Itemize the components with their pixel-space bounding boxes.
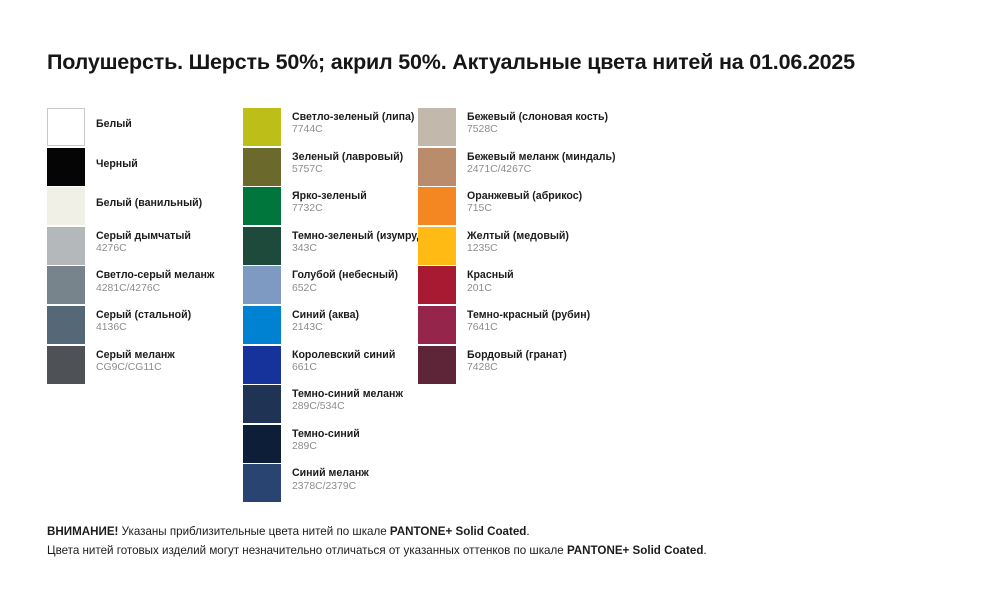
color-labels: Серый (стальной)4136C	[96, 306, 191, 334]
color-row: Голубой (небесный)652C	[243, 266, 418, 306]
color-labels: Красный201C	[467, 266, 514, 294]
color-name: Серый меланж	[96, 349, 175, 361]
color-name: Темно-зеленый (изумруд)	[292, 230, 427, 242]
color-labels: Серый дымчатый4276C	[96, 227, 191, 255]
color-labels: Синий (аква)2143C	[292, 306, 359, 334]
swatch-column-2: Светло-зеленый (липа)7744CЗеленый (лавро…	[243, 108, 418, 504]
color-name: Светло-серый меланж	[96, 269, 214, 281]
color-labels: Темно-синий меланж289C/534C	[292, 385, 403, 413]
color-name: Желтый (медовый)	[467, 230, 569, 242]
color-row: Белый	[47, 108, 243, 148]
color-pantone-code: 2471C/4267C	[467, 164, 616, 176]
color-row: Темно-синий меланж289C/534C	[243, 385, 418, 425]
color-swatch	[418, 266, 456, 304]
color-name: Бежевый меланж (миндаль)	[467, 151, 616, 163]
footer-line-2: Цвета нитей готовых изделий могут незнач…	[47, 542, 947, 561]
color-labels: Королевский синий661C	[292, 346, 395, 374]
color-row: Оранжевый (абрикос)715C	[418, 187, 718, 227]
color-name: Серый дымчатый	[96, 230, 191, 242]
footer-line-1-end: .	[526, 525, 529, 538]
color-row: Темно-красный (рубин)7641C	[418, 306, 718, 346]
color-row: Красный201C	[418, 266, 718, 306]
color-pantone-code: 715C	[467, 203, 582, 215]
color-swatch	[418, 187, 456, 225]
color-labels: Синий меланж2378C/2379C	[292, 464, 369, 492]
color-swatch	[418, 227, 456, 265]
color-labels: Бежевый меланж (миндаль)2471C/4267C	[467, 148, 616, 176]
color-swatch	[47, 346, 85, 384]
color-swatch	[243, 187, 281, 225]
color-pantone-code: 5757C	[292, 164, 403, 176]
color-name: Ярко-зеленый	[292, 190, 367, 202]
footer-attention-label: ВНИМАНИЕ!	[47, 525, 118, 538]
color-name: Серый (стальной)	[96, 309, 191, 321]
color-name: Бордовый (гранат)	[467, 349, 567, 361]
color-name: Черный	[96, 158, 138, 170]
color-labels: Черный	[96, 148, 138, 170]
color-pantone-code: 2143C	[292, 322, 359, 334]
color-pantone-code: 289C/534C	[292, 401, 403, 413]
color-swatch	[243, 346, 281, 384]
pantone-brand-2: PANTONE+ Solid Coated	[567, 544, 703, 557]
color-labels: Белый	[96, 108, 132, 130]
color-labels: Темно-зеленый (изумруд)343C	[292, 227, 427, 255]
footer-line-2-text: Цвета нитей готовых изделий могут незнач…	[47, 544, 567, 557]
color-pantone-code: 661C	[292, 362, 395, 374]
color-row: Светло-серый меланж4281C/4276C	[47, 266, 243, 306]
color-swatch	[418, 306, 456, 344]
color-pantone-code: 289C	[292, 441, 360, 453]
color-labels: Темно-красный (рубин)7641C	[467, 306, 590, 334]
color-name: Синий меланж	[292, 467, 369, 479]
color-row: Серый (стальной)4136C	[47, 306, 243, 346]
color-row: Синий меланж2378C/2379C	[243, 464, 418, 504]
color-name: Королевский синий	[292, 349, 395, 361]
color-name: Светло-зеленый (липа)	[292, 111, 414, 123]
color-pantone-code: 7428C	[467, 362, 567, 374]
color-row: Серый меланжCG9C/CG11C	[47, 346, 243, 386]
color-pantone-code: 4136C	[96, 322, 191, 334]
color-swatch	[243, 425, 281, 463]
color-swatch	[47, 187, 85, 225]
color-name: Темно-синий	[292, 428, 360, 440]
color-labels: Бежевый (слоновая кость)7528C	[467, 108, 608, 136]
footer-line-2-end: .	[703, 544, 706, 557]
color-labels: Темно-синий289C	[292, 425, 360, 453]
color-pantone-code: CG9C/CG11C	[96, 362, 175, 374]
color-row: Желтый (медовый)1235C	[418, 227, 718, 267]
color-pantone-code: 652C	[292, 283, 398, 295]
color-pantone-code: 7732C	[292, 203, 367, 215]
color-row: Темно-синий289C	[243, 425, 418, 465]
color-swatch	[243, 306, 281, 344]
color-name: Голубой (небесный)	[292, 269, 398, 281]
color-name: Красный	[467, 269, 514, 281]
color-swatch	[47, 108, 85, 146]
pantone-brand-1: PANTONE+ Solid Coated	[390, 525, 526, 538]
color-row: Зеленый (лавровый)5757C	[243, 148, 418, 188]
color-swatch	[243, 385, 281, 423]
color-swatch	[243, 148, 281, 186]
swatch-column-1: БелыйЧерныйБелый (ванильный)Серый дымчат…	[47, 108, 243, 385]
color-swatch	[47, 148, 85, 186]
color-labels: Серый меланжCG9C/CG11C	[96, 346, 175, 374]
color-name: Белый	[96, 118, 132, 130]
color-pantone-code: 7641C	[467, 322, 590, 334]
color-name: Бежевый (слоновая кость)	[467, 111, 608, 123]
footer-line-1: ВНИМАНИЕ! Указаны приблизительные цвета …	[47, 523, 947, 542]
color-labels: Ярко-зеленый7732C	[292, 187, 367, 215]
color-pantone-code: 4281C/4276C	[96, 283, 214, 295]
color-swatch	[243, 464, 281, 502]
swatch-columns: БелыйЧерныйБелый (ванильный)Серый дымчат…	[47, 108, 957, 504]
color-pantone-code: 1235C	[467, 243, 569, 255]
color-row: Бордовый (гранат)7428C	[418, 346, 718, 386]
color-pantone-code: 2378C/2379C	[292, 481, 369, 493]
color-name: Синий (аква)	[292, 309, 359, 321]
color-labels: Желтый (медовый)1235C	[467, 227, 569, 255]
color-name: Зеленый (лавровый)	[292, 151, 403, 163]
color-row: Серый дымчатый4276C	[47, 227, 243, 267]
color-swatch	[243, 227, 281, 265]
color-swatch	[243, 266, 281, 304]
page-title: Полушерсть. Шерсть 50%; акрил 50%. Актуа…	[47, 50, 855, 75]
color-swatch	[47, 306, 85, 344]
color-row: Бежевый (слоновая кость)7528C	[418, 108, 718, 148]
color-swatch	[47, 227, 85, 265]
color-row: Синий (аква)2143C	[243, 306, 418, 346]
color-name: Темно-красный (рубин)	[467, 309, 590, 321]
color-swatch	[418, 346, 456, 384]
color-row: Королевский синий661C	[243, 346, 418, 386]
color-row: Черный	[47, 148, 243, 188]
color-pantone-code: 7528C	[467, 124, 608, 136]
color-labels: Светло-зеленый (липа)7744C	[292, 108, 414, 136]
color-pantone-code: 201C	[467, 283, 514, 295]
color-swatch	[47, 266, 85, 304]
color-pantone-code: 343C	[292, 243, 427, 255]
color-row: Светло-зеленый (липа)7744C	[243, 108, 418, 148]
footer-line-1-text: Указаны приблизительные цвета нитей по ш…	[118, 525, 389, 538]
color-pantone-code: 4276C	[96, 243, 191, 255]
color-name: Темно-синий меланж	[292, 388, 403, 400]
color-row: Бежевый меланж (миндаль)2471C/4267C	[418, 148, 718, 188]
color-row: Ярко-зеленый7732C	[243, 187, 418, 227]
color-swatch	[418, 108, 456, 146]
color-row: Белый (ванильный)	[47, 187, 243, 227]
color-labels: Светло-серый меланж4281C/4276C	[96, 266, 214, 294]
footer-note: ВНИМАНИЕ! Указаны приблизительные цвета …	[47, 523, 947, 561]
color-chart-page: Полушерсть. Шерсть 50%; акрил 50%. Актуа…	[0, 0, 1000, 609]
color-labels: Белый (ванильный)	[96, 187, 202, 209]
swatch-column-3: Бежевый (слоновая кость)7528CБежевый мел…	[418, 108, 718, 385]
color-name: Оранжевый (абрикос)	[467, 190, 582, 202]
color-labels: Бордовый (гранат)7428C	[467, 346, 567, 374]
color-labels: Голубой (небесный)652C	[292, 266, 398, 294]
color-name: Белый (ванильный)	[96, 197, 202, 209]
color-labels: Зеленый (лавровый)5757C	[292, 148, 403, 176]
color-labels: Оранжевый (абрикос)715C	[467, 187, 582, 215]
color-swatch	[243, 108, 281, 146]
color-row: Темно-зеленый (изумруд)343C	[243, 227, 418, 267]
color-swatch	[418, 148, 456, 186]
color-pantone-code: 7744C	[292, 124, 414, 136]
